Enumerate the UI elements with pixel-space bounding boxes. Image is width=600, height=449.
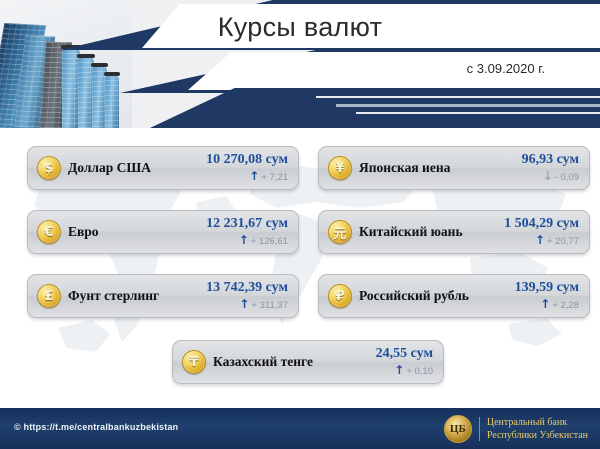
rate-card-values: 139,59 сум↑+ 2,28: [515, 281, 579, 312]
rate-card-values: 13 742,39 сум↑+ 311,37: [206, 281, 288, 312]
currency-rate-value: 24,55 сум: [376, 347, 433, 362]
kzt-coin-icon: ₸: [182, 350, 206, 374]
rate-card-usd: $Доллар США10 270,08 сум↑+ 7,21: [27, 146, 299, 190]
rate-card-identity: ₸Казахский тенге: [182, 350, 376, 374]
arrow-up-icon: ↑: [535, 233, 545, 247]
arrow-up-icon: ↑: [239, 297, 249, 311]
telegram-url[interactable]: © https://t.me/centralbankuzbekistan: [14, 422, 178, 432]
eur-coin-icon: €: [37, 220, 61, 244]
arrow-up-icon: ↑: [249, 169, 259, 183]
currency-rate-value: 12 231,67 сум: [206, 217, 288, 232]
tower-cap-4: [104, 72, 120, 76]
rate-card-values: 24,55 сум↑+ 0,10: [376, 347, 433, 378]
header-accent-line-1: [316, 96, 600, 98]
currency-name: Японская иена: [359, 160, 450, 176]
currency-name: Доллар США: [68, 160, 151, 176]
rate-card-identity: ¥Японская иена: [328, 156, 522, 180]
rate-card-identity: $Доллар США: [37, 156, 206, 180]
rate-card-identity: ₽Российский рубль: [328, 284, 515, 308]
effective-date-label: с 3.09.2020 г.: [467, 61, 545, 76]
arrow-up-icon: ↑: [394, 363, 404, 377]
rate-card-values: 96,93 сум↓- 0,09: [522, 153, 579, 184]
rate-card-identity: £Фунт стерлинг: [37, 284, 206, 308]
tower-cap-3: [91, 63, 108, 67]
rate-card-identity: 元Китайский юань: [328, 220, 504, 244]
change-amount: - 0,09: [555, 172, 579, 183]
currency-rate-value: 13 742,39 сум: [206, 281, 288, 296]
brand-divider: [479, 417, 480, 441]
change-amount: + 20,77: [547, 236, 579, 247]
change-amount: + 0,10: [406, 366, 433, 377]
bank-name-line-2: Республики Узбекистан: [487, 429, 588, 443]
currency-name: Евро: [68, 224, 99, 240]
change-amount: + 311,37: [251, 300, 288, 311]
cny-coin-icon: 元: [328, 220, 352, 244]
rate-card-cny: 元Китайский юань1 504,29 сум↑+ 20,77: [318, 210, 590, 254]
arrow-up-icon: ↑: [540, 297, 550, 311]
bank-name-line-1: Центральный банк: [487, 416, 588, 430]
bank-name: Центральный банк Республики Узбекистан: [487, 416, 592, 443]
rate-card-eur: €Евро12 231,67 сум↑+ 126,61: [27, 210, 299, 254]
arrow-down-icon: ↓: [543, 169, 553, 183]
rate-card-values: 10 270,08 сум↑+ 7,21: [206, 153, 288, 184]
header-navy-shape-bottom: [150, 88, 600, 128]
currency-rate-value: 139,59 сум: [515, 281, 579, 296]
currency-name: Российский рубль: [359, 288, 469, 304]
currency-rate-value: 1 504,29 сум: [504, 217, 579, 232]
currency-rate-value: 10 270,08 сум: [206, 153, 288, 168]
header-accent-line-2: [336, 104, 600, 107]
jpy-coin-icon: ¥: [328, 156, 352, 180]
header-banner: Курсы валют с 3.09.2020 г.: [0, 0, 600, 128]
currency-rate-change: ↑+ 311,37: [206, 298, 288, 311]
rate-card-identity: €Евро: [37, 220, 206, 244]
tower-round-4: [105, 75, 119, 128]
header-accent-line-3: [356, 112, 600, 114]
currency-rate-change: ↑+ 126,61: [206, 234, 288, 247]
currency-rate-change: ↓- 0,09: [522, 170, 579, 183]
rates-board: $Доллар США10 270,08 сум↑+ 7,21¥Японская…: [0, 128, 600, 408]
rate-card-gbp: £Фунт стерлинг13 742,39 сум↑+ 311,37: [27, 274, 299, 318]
exchange-rates-infographic: Курсы валют с 3.09.2020 г. $Доллар США10…: [0, 0, 600, 449]
gbp-coin-icon: £: [37, 284, 61, 308]
rate-card-rub: ₽Российский рубль139,59 сум↑+ 2,28: [318, 274, 590, 318]
currency-rate-change: ↑+ 2,28: [515, 298, 579, 311]
currency-rate-value: 96,93 сум: [522, 153, 579, 168]
change-amount: + 7,21: [261, 172, 288, 183]
rub-coin-icon: ₽: [328, 284, 352, 308]
rate-card-kzt: ₸Казахский тенге24,55 сум↑+ 0,10: [172, 340, 444, 384]
footer-bar: © https://t.me/centralbankuzbekistan ЦБ …: [0, 408, 600, 449]
rate-card-jpy: ¥Японская иена96,93 сум↓- 0,09: [318, 146, 590, 190]
currency-name: Фунт стерлинг: [68, 288, 159, 304]
central-bank-emblem-icon: ЦБ: [444, 415, 472, 443]
usd-coin-icon: $: [37, 156, 61, 180]
currency-rate-change: ↑+ 0,10: [376, 364, 433, 377]
rate-card-values: 1 504,29 сум↑+ 20,77: [504, 217, 579, 248]
tower-cap-2: [77, 54, 95, 58]
rate-card-values: 12 231,67 сум↑+ 126,61: [206, 217, 288, 248]
change-amount: + 126,61: [251, 236, 288, 247]
currency-rate-change: ↑+ 7,21: [206, 170, 288, 183]
change-amount: + 2,28: [552, 300, 579, 311]
page-title: Курсы валют: [0, 12, 600, 43]
currency-name: Казахский тенге: [213, 354, 313, 370]
arrow-up-icon: ↑: [239, 233, 249, 247]
currency-name: Китайский юань: [359, 224, 463, 240]
bank-branding: ЦБ Центральный банк Республики Узбекиста…: [444, 415, 592, 443]
currency-rate-change: ↑+ 20,77: [504, 234, 579, 247]
